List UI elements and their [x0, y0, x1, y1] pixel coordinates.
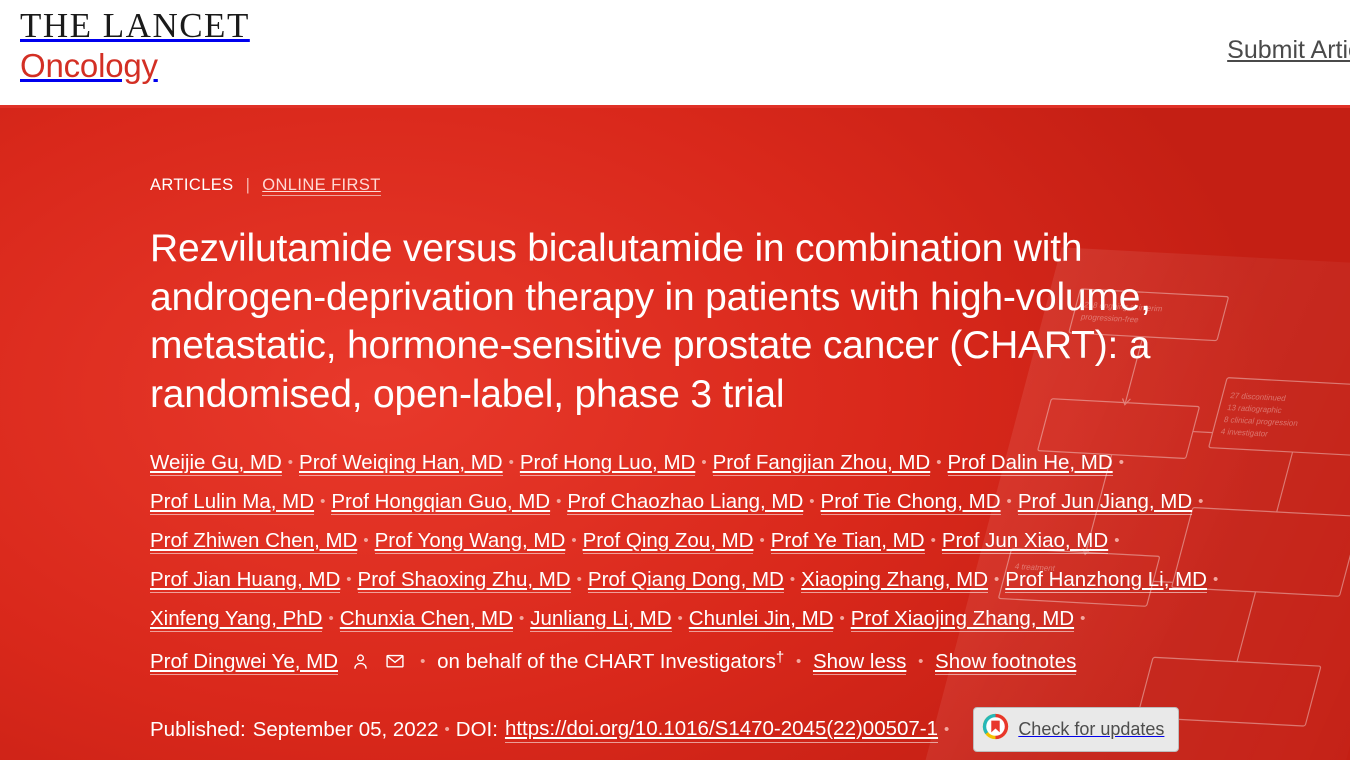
author-link[interactable]: Junliang Li, MD [530, 607, 671, 632]
group-authorship-marker: † [776, 649, 784, 666]
author-separator-dot: • [328, 599, 333, 638]
crossmark-logo-icon [982, 713, 1009, 746]
published-label: Published: [150, 718, 246, 742]
author-separator-dot: • [936, 443, 941, 482]
doi-link[interactable]: https://doi.org/10.1016/S1470-2045(22)00… [505, 717, 938, 743]
site-masthead: THE LANCET Oncology Submit Article [0, 0, 1350, 108]
author-separator-dot: • [1119, 443, 1124, 482]
author-link[interactable]: Prof Xiaojing Zhang, MD [851, 607, 1074, 632]
author-separator-dot: • [509, 443, 514, 482]
publication-info-line: Published: September 05, 2022 • DOI: htt… [150, 707, 1350, 752]
author-link[interactable]: Prof Hongqian Guo, MD [331, 490, 550, 515]
author-link[interactable]: Prof Chaozhao Liang, MD [567, 490, 803, 515]
kicker-online-first-link[interactable]: ONLINE FIRST [262, 176, 380, 196]
author-separator-dot: • [1213, 560, 1218, 599]
author-link[interactable]: Prof Dingwei Ye, MD [150, 650, 338, 675]
submit-article-link[interactable]: Submit Article [1227, 36, 1350, 65]
author-link[interactable]: Prof Lulin Ma, MD [150, 490, 314, 515]
author-link[interactable]: Chunxia Chen, MD [340, 607, 513, 632]
author-separator-dot: • [809, 482, 814, 521]
author-link[interactable]: Xinfeng Yang, PhD [150, 607, 322, 632]
author-link[interactable]: Chunlei Jin, MD [689, 607, 834, 632]
author-separator-dot: • [1198, 482, 1203, 521]
author-separator-dot: • [519, 599, 524, 638]
show-less-link[interactable]: Show less [813, 650, 906, 675]
author-separator-dot: • [577, 560, 582, 599]
author-separator-dot: • [288, 443, 293, 482]
author-profile-icon[interactable] [351, 652, 370, 671]
author-link[interactable]: Prof Weiqing Han, MD [299, 451, 503, 476]
lancet-oncology-logo[interactable]: THE LANCET Oncology [20, 8, 250, 82]
logo-oncology-text: Oncology [20, 49, 250, 82]
author-separator-dot: • [1080, 599, 1085, 638]
publine-separator-dot: • [944, 721, 949, 738]
author-separator-dot: • [571, 521, 576, 560]
author-separator-dot: • [918, 642, 923, 681]
email-icon[interactable] [385, 651, 405, 671]
author-separator-dot: • [839, 599, 844, 638]
kicker-separator: | [246, 176, 251, 194]
author-link[interactable]: Prof Jian Huang, MD [150, 568, 340, 593]
author-list: Weijie Gu, MD•Prof Weiqing Han, MD•Prof … [150, 443, 1240, 681]
author-link[interactable]: Prof Shaoxing Zhu, MD [358, 568, 571, 593]
doi-label: DOI: [456, 718, 498, 742]
author-link[interactable]: Prof Jun Jiang, MD [1018, 490, 1192, 515]
article-header-content: ARTICLES | ONLINE FIRST Rezvilutamide ve… [0, 108, 1350, 752]
show-footnotes-link[interactable]: Show footnotes [935, 650, 1076, 675]
author-link[interactable]: Prof Jun Xiao, MD [942, 529, 1108, 554]
author-separator-dot: • [931, 521, 936, 560]
author-separator-dot: • [759, 521, 764, 560]
author-link[interactable]: Prof Fangjian Zhou, MD [713, 451, 931, 476]
author-link[interactable]: Prof Tie Chong, MD [821, 490, 1001, 515]
article-hero-banner: 218 ongoing at interim progression-free … [0, 108, 1350, 760]
published-date: September 05, 2022 [253, 718, 439, 742]
author-link[interactable]: Xiaoping Zhang, MD [801, 568, 988, 593]
author-link[interactable]: Prof Hanzhong Li, MD [1005, 568, 1207, 593]
article-title: Rezvilutamide versus bicalutamide in com… [150, 225, 1260, 419]
author-link[interactable]: Weijie Gu, MD [150, 451, 282, 476]
author-separator-dot: • [320, 482, 325, 521]
publine-separator-dot: • [445, 721, 450, 738]
group-authorship-text: on behalf of the CHART Investigators [437, 650, 776, 673]
crossmark-check-for-updates-button[interactable]: Check for updates [973, 707, 1179, 752]
author-separator-dot: • [701, 443, 706, 482]
author-separator-dot: • [346, 560, 351, 599]
article-kicker: ARTICLES | ONLINE FIRST [150, 176, 1350, 195]
kicker-section-label: ARTICLES [150, 176, 234, 194]
author-link[interactable]: Prof Dalin He, MD [948, 451, 1113, 476]
crossmark-label: Check for updates [1018, 719, 1164, 740]
author-separator-dot: • [994, 560, 999, 599]
author-link[interactable]: Prof Hong Luo, MD [520, 451, 695, 476]
author-separator-dot: • [1007, 482, 1012, 521]
logo-the-lancet-text: THE LANCET [20, 8, 250, 43]
author-link[interactable]: Prof Yong Wang, MD [375, 529, 566, 554]
author-link[interactable]: Prof Ye Tian, MD [771, 529, 925, 554]
author-separator-dot: • [678, 599, 683, 638]
author-separator-dot: • [363, 521, 368, 560]
author-link[interactable]: Prof Qing Zou, MD [583, 529, 754, 554]
author-separator-dot: • [420, 642, 425, 681]
author-separator-dot: • [790, 560, 795, 599]
author-separator-dot: • [556, 482, 561, 521]
author-separator-dot: • [1114, 521, 1119, 560]
author-separator-dot: • [796, 642, 801, 681]
author-link[interactable]: Prof Zhiwen Chen, MD [150, 529, 357, 554]
author-link[interactable]: Prof Qiang Dong, MD [588, 568, 784, 593]
